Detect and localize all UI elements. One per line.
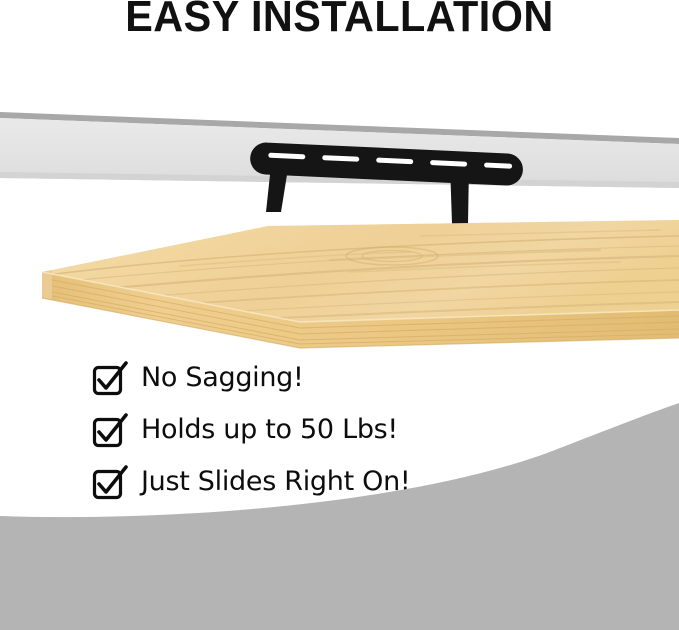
checkbox-checked-icon [92, 363, 122, 393]
feature-label: No Sagging! [141, 363, 304, 393]
feature-label: Just Slides Right On! [141, 467, 410, 497]
checkbox-checked-icon [92, 467, 122, 497]
feature-item: Just Slides Right On! [92, 456, 612, 508]
feature-list: No Sagging! Holds up to 50 Lbs! Just Sli… [92, 352, 612, 508]
floating-shelf [42, 220, 679, 348]
feature-label: Holds up to 50 Lbs! [141, 415, 398, 445]
feature-item: Holds up to 50 Lbs! [92, 404, 612, 456]
installation-illustration [0, 60, 679, 360]
feature-item: No Sagging! [92, 352, 612, 404]
checkbox-checked-icon [92, 415, 122, 445]
page-title: EASY INSTALLATION [20, 0, 658, 40]
product-feature-graphic: EASY INSTALLATION [0, 0, 679, 630]
